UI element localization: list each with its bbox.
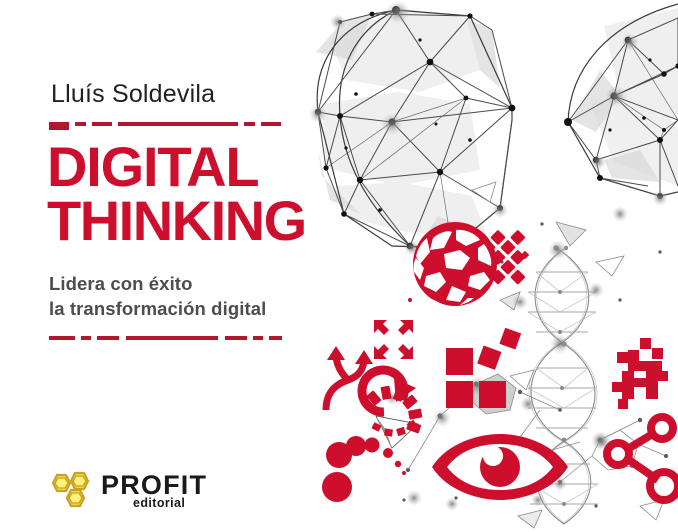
particle-nodes <box>385 206 668 511</box>
page-title: DIGITAL THINKING <box>47 140 306 248</box>
dots-arc-icon <box>322 436 406 502</box>
title-line-2: THINKING <box>47 194 306 248</box>
eye-icon <box>432 434 568 500</box>
expand-arrows-icon <box>374 320 413 359</box>
floating-particles <box>376 182 666 528</box>
rule-above-title <box>49 122 301 126</box>
publisher-tagline: editorial <box>133 496 185 510</box>
dna-helix-wireframe <box>520 240 609 524</box>
share-nodes-icon <box>607 417 678 500</box>
branching-arrows-icon <box>326 354 364 410</box>
author-name: Lluís Soldevila <box>51 82 215 107</box>
checker-diamond-icon <box>451 210 546 305</box>
refresh-arrow-head <box>394 378 416 402</box>
subtitle: Lidera con éxito la transformación digit… <box>49 272 266 322</box>
pixel-robot-icon <box>612 338 668 409</box>
spinner-icon <box>366 386 422 434</box>
capsule-left-wireframe <box>309 0 515 256</box>
refresh-icon <box>362 370 404 412</box>
honeycomb-cells-icon <box>47 470 95 515</box>
publisher-logo: PROFIT editorial <box>47 466 217 516</box>
grid-squares-icon <box>446 328 521 408</box>
branching-arrow-heads <box>327 346 373 364</box>
subtitle-line-2: la transformación digital <box>49 297 266 322</box>
refresh-icon-dashes <box>375 422 414 436</box>
globe-icon <box>413 222 497 306</box>
red-accent-dots <box>408 225 529 302</box>
book-cover: Lluís Soldevila DIGITAL THINKING Lidera … <box>0 0 678 532</box>
capsule-right-wireframe <box>564 4 678 206</box>
subtitle-line-1: Lidera con éxito <box>49 272 266 297</box>
rule-below-subtitle <box>49 336 282 340</box>
